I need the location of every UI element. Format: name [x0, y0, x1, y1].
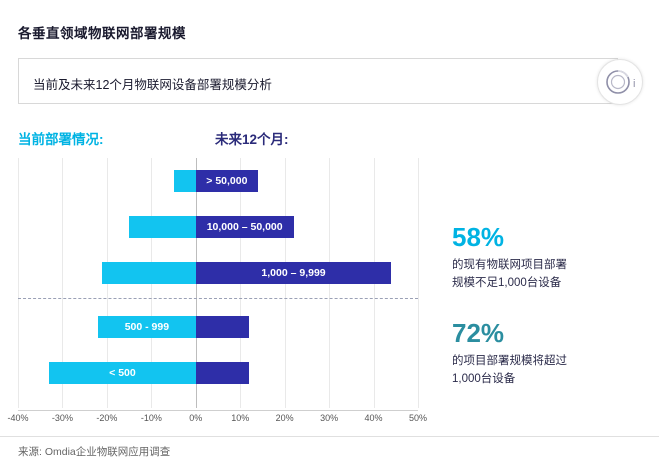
stat-58-line2: 规模不足1,000台设备: [452, 274, 632, 292]
stat-description-72: 的项目部署规模将超过 1,000台设备: [452, 352, 632, 388]
stat-value-72: 72%: [452, 318, 504, 349]
x-axis-tick: -10%: [141, 413, 162, 423]
x-axis-tick: 0%: [189, 413, 202, 423]
footer-divider: [0, 436, 659, 437]
page-title: 各垂直领域物联网部署规模: [18, 22, 186, 42]
stat-72-line2: 1,000台设备: [452, 370, 632, 388]
bar-future-1: 10,000 – 50,000: [196, 216, 294, 238]
chart-x-axis: -40%-30%-20%-10%0%10%20%30%40%50%: [18, 410, 418, 430]
legend-current-label: 当前部署情况:: [18, 128, 104, 148]
stat-description-58: 的现有物联网项目部署 规模不足1,000台设备: [452, 256, 632, 292]
svg-text:i: i: [633, 78, 635, 90]
legend-future-label: 未来12个月:: [215, 128, 289, 148]
gridline: [418, 158, 419, 408]
bar-future-0: > 50,000: [196, 170, 258, 192]
logo-glyph-icon: i: [598, 60, 642, 104]
stat-value-58: 58%: [452, 222, 504, 253]
bar-future-2: 1,000 – 9,999: [196, 262, 392, 284]
bar-current-2: [102, 262, 195, 284]
x-axis-tick: -30%: [52, 413, 73, 423]
stat-72-line1: 的项目部署规模将超过: [452, 352, 632, 370]
x-axis-tick: 20%: [276, 413, 294, 423]
bar-current-1: [129, 216, 196, 238]
x-axis-tick: 10%: [231, 413, 249, 423]
x-axis-tick: -40%: [7, 413, 28, 423]
gridline: [18, 158, 19, 408]
subtitle-text: 当前及未来12个月物联网设备部署规模分析: [33, 74, 272, 93]
bar-current-4: < 500: [49, 362, 196, 384]
stat-58-line1: 的现有物联网项目部署: [452, 256, 632, 274]
x-axis-tick: -20%: [96, 413, 117, 423]
source-note: 来源: Omdia企业物联网应用调查: [18, 444, 170, 459]
chart-plot-area: > 50,00010,000 – 50,0001,000 – 9,999500 …: [18, 158, 418, 408]
axis-line: [18, 410, 418, 411]
bar-current-3: 500 - 999: [98, 316, 196, 338]
subtitle-box: 当前及未来12个月物联网设备部署规模分析: [18, 58, 618, 104]
bar-future-3: [196, 316, 249, 338]
x-axis-tick: 50%: [409, 413, 427, 423]
bar-future-4: [196, 362, 249, 384]
x-axis-tick: 40%: [365, 413, 383, 423]
bar-current-0: [174, 170, 196, 192]
x-axis-tick: 30%: [320, 413, 338, 423]
group-divider: [18, 298, 418, 299]
omdia-circle-logo-icon: i: [597, 59, 643, 105]
